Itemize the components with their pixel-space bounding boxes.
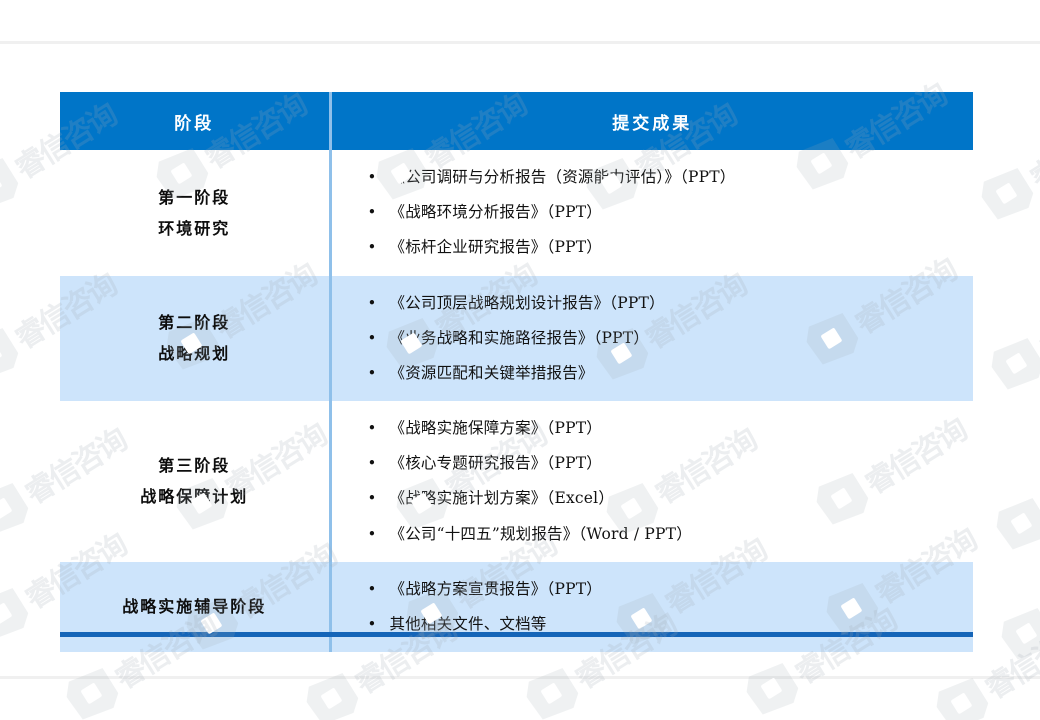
- phase-label: 第二阶段: [66, 307, 323, 338]
- rueixin-logo-icon: [520, 663, 583, 720]
- output-label: 《资源匹配和关键举措报告》: [390, 364, 594, 382]
- bullet-icon: •: [368, 356, 377, 390]
- output-label: 《业务战略和实施路径报告》（PPT）: [390, 329, 650, 347]
- output-label: 其他相关文件、文档等: [390, 615, 547, 633]
- list-item: •《战略环境分析报告》（PPT）: [390, 195, 968, 230]
- rueixin-logo-icon: [975, 163, 1038, 226]
- rueixin-logo-icon: [990, 493, 1040, 556]
- phase-label: 战略规划: [66, 338, 323, 369]
- list-item: •《资源匹配和关键举措报告》: [390, 356, 968, 391]
- output-label: 《战略方案宣贯报告》（PPT）: [390, 580, 602, 598]
- bullet-icon: •: [368, 321, 377, 355]
- phase-label: 第一阶段: [66, 182, 323, 213]
- watermark: 睿信咨询: [995, 540, 1040, 666]
- rueixin-logo-icon: [0, 323, 24, 386]
- list-item: •《核心专题研究报告》（PPT）: [390, 446, 968, 481]
- output-label: 《公司调研与分析报告（资源能力评估）》（PPT）: [390, 168, 736, 186]
- rueixin-logo-icon: [0, 478, 34, 541]
- list-item: •《公司“十四五”规划报告》（Word / PPT）: [390, 517, 968, 552]
- watermark-label: 睿信咨询: [975, 611, 1040, 708]
- list-item: •《标杆企业研究报告》（PPT）: [390, 230, 968, 265]
- bullet-icon: •: [368, 230, 377, 264]
- table-body: 第一阶段环境研究•《公司调研与分析报告（资源能力评估）》（PPT）•《战略环境分…: [60, 150, 973, 652]
- rueixin-logo-icon: [60, 663, 123, 720]
- output-cell: •《公司调研与分析报告（资源能力评估）》（PPT）•《战略环境分析报告》（PPT…: [330, 150, 973, 276]
- output-label: 《战略实施计划方案》（Excel）: [390, 489, 615, 507]
- column-header-phase: 阶段: [60, 92, 330, 150]
- rueixin-logo-icon: [995, 603, 1040, 666]
- rueixin-logo-icon: [0, 153, 24, 216]
- bullet-icon: •: [368, 286, 377, 320]
- phase-cell: 第二阶段战略规划: [60, 276, 330, 402]
- watermark-label: 睿信咨询: [1035, 431, 1040, 528]
- list-item: •《战略实施保障方案》（PPT）: [390, 411, 968, 446]
- bullet-icon: •: [368, 481, 377, 515]
- table-bottom-rule: [60, 632, 973, 637]
- output-cell: •《战略实施保障方案》（PPT）•《核心专题研究报告》（PPT）•《战略实施计划…: [330, 401, 973, 562]
- table-row: 第二阶段战略规划•《公司顶层战略规划设计报告》（PPT）•《业务战略和实施路径报…: [60, 276, 973, 402]
- rueixin-logo-icon: [0, 583, 34, 646]
- rueixin-logo-icon: [985, 333, 1040, 396]
- output-label: 《公司“十四五”规划报告》（Word / PPT）: [390, 525, 692, 543]
- rueixin-logo-icon: [740, 658, 803, 720]
- rueixin-logo-icon: [930, 673, 993, 720]
- list-item: •《业务战略和实施路径报告》（PPT）: [390, 321, 968, 356]
- bullet-icon: •: [368, 195, 377, 229]
- watermark: 睿信咨询: [990, 430, 1040, 556]
- bullet-icon: •: [368, 160, 377, 194]
- watermark-label: 睿信咨询: [1030, 271, 1040, 368]
- list-item: •《战略方案宣贯报告》（PPT）: [390, 572, 968, 607]
- list-item: •《战略实施计划方案》（Excel）: [390, 481, 968, 516]
- column-header-output: 提交成果: [330, 92, 973, 150]
- table-row: 第三阶段战略保障计划•《战略实施保障方案》（PPT）•《核心专题研究报告》（PP…: [60, 401, 973, 562]
- table-row: 第一阶段环境研究•《公司调研与分析报告（资源能力评估）》（PPT）•《战略环境分…: [60, 150, 973, 276]
- phase-label: 战略保障计划: [66, 481, 323, 512]
- table-header-row: 阶段 提交成果: [60, 92, 973, 150]
- watermark-label: 睿信咨询: [1020, 101, 1040, 198]
- deliverables-table: 阶段 提交成果 第一阶段环境研究•《公司调研与分析报告（资源能力评估）》（PPT…: [60, 92, 973, 652]
- output-cell: •《公司顶层战略规划设计报告》（PPT）•《业务战略和实施路径报告》（PPT）•…: [330, 276, 973, 402]
- watermark: 睿信咨询: [985, 270, 1040, 396]
- phase-label: 环境研究: [66, 213, 323, 244]
- bullet-icon: •: [368, 572, 377, 606]
- phase-cell: 战略实施辅导阶段: [60, 562, 330, 652]
- list-item: •《公司调研与分析报告（资源能力评估）》（PPT）: [390, 160, 968, 195]
- output-label: 《战略实施保障方案》（PPT）: [390, 419, 602, 437]
- bullet-icon: •: [368, 517, 377, 551]
- output-cell: •《战略方案宣贯报告》（PPT）•其他相关文件、文档等: [330, 562, 973, 652]
- phase-label: 第三阶段: [66, 450, 323, 481]
- list-item: •《公司顶层战略规划设计报告》（PPT）: [390, 286, 968, 321]
- table-header: 阶段 提交成果: [60, 92, 973, 150]
- bullet-icon: •: [368, 446, 377, 480]
- phase-cell: 第一阶段环境研究: [60, 150, 330, 276]
- phase-label: 战略实施辅导阶段: [66, 591, 323, 622]
- phase-cell: 第三阶段战略保障计划: [60, 401, 330, 562]
- output-list: •《公司顶层战略规划设计报告》（PPT）•《业务战略和实施路径报告》（PPT）•…: [332, 286, 968, 392]
- output-label: 《核心专题研究报告》（PPT）: [390, 454, 602, 472]
- output-list: •《公司调研与分析报告（资源能力评估）》（PPT）•《战略环境分析报告》（PPT…: [332, 160, 968, 266]
- output-label: 《公司顶层战略规划设计报告》（PPT）: [390, 294, 665, 312]
- watermark: 睿信咨询: [975, 100, 1040, 226]
- table-row: 战略实施辅导阶段•《战略方案宣贯报告》（PPT）•其他相关文件、文档等: [60, 562, 973, 652]
- output-label: 《标杆企业研究报告》（PPT）: [390, 238, 602, 256]
- output-label: 《战略环境分析报告》（PPT）: [390, 203, 602, 221]
- page-separator-top: [0, 41, 1040, 44]
- bullet-icon: •: [368, 411, 377, 445]
- page-separator-bottom: [0, 676, 1040, 679]
- output-list: •《战略实施保障方案》（PPT）•《核心专题研究报告》（PPT）•《战略实施计划…: [332, 411, 968, 552]
